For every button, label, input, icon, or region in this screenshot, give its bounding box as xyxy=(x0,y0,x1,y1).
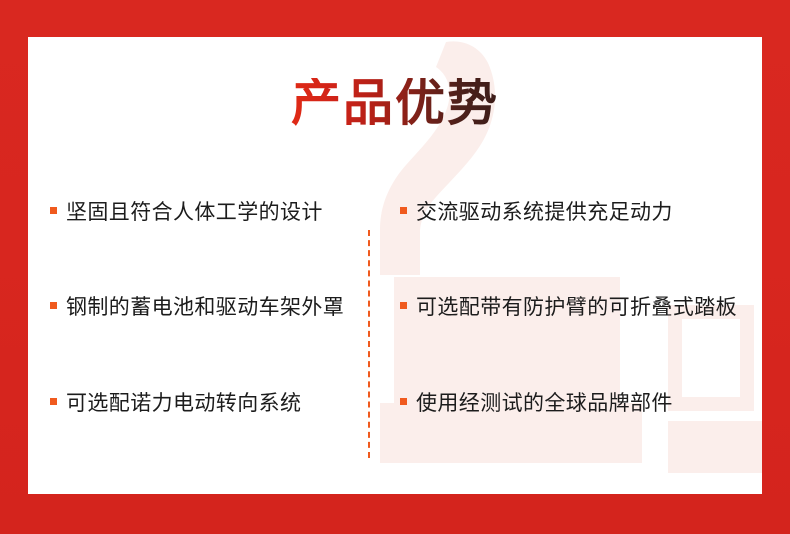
feature-text: 坚固且符合人体工学的设计 xyxy=(66,202,323,223)
list-item: 坚固且符合人体工学的设计 xyxy=(50,197,368,227)
feature-text: 钢制的蓄电池和驱动车架外罩 xyxy=(66,297,344,318)
square-bullet-icon xyxy=(400,302,407,309)
features-left-column: 坚固且符合人体工学的设计 钢制的蓄电池和驱动车架外罩 可选配诺力电动转向系统 xyxy=(28,170,368,450)
square-bullet-icon xyxy=(400,207,407,214)
feature-text: 使用经测试的全球品牌部件 xyxy=(416,393,673,414)
feature-text: 可选配带有防护臂的可折叠式踏板 xyxy=(416,297,737,318)
square-bullet-icon xyxy=(50,302,57,309)
product-advantages-banner: 产品优势 坚固且符合人体工学的设计 钢制的蓄电池和驱动车架外罩 可选配诺力电动转… xyxy=(0,0,790,534)
square-bullet-icon xyxy=(400,398,407,405)
list-item: 钢制的蓄电池和驱动车架外罩 xyxy=(50,292,368,322)
list-item: 使用经测试的全球品牌部件 xyxy=(400,388,762,418)
square-bullet-icon xyxy=(50,398,57,405)
list-item: 可选配带有防护臂的可折叠式踏板 xyxy=(400,292,762,322)
white-content-card: 产品优势 坚固且符合人体工学的设计 钢制的蓄电池和驱动车架外罩 可选配诺力电动转… xyxy=(28,37,762,494)
page-title: 产品优势 xyxy=(291,78,499,128)
list-item: 交流驱动系统提供充足动力 xyxy=(400,197,762,227)
page-title-container: 产品优势 xyxy=(28,78,762,128)
feature-text: 交流驱动系统提供充足动力 xyxy=(416,202,673,223)
square-bullet-icon xyxy=(50,207,57,214)
list-item: 可选配诺力电动转向系统 xyxy=(50,388,368,418)
features-right-column: 交流驱动系统提供充足动力 可选配带有防护臂的可折叠式踏板 使用经测试的全球品牌部… xyxy=(368,170,762,450)
features-columns: 坚固且符合人体工学的设计 钢制的蓄电池和驱动车架外罩 可选配诺力电动转向系统 交… xyxy=(28,170,762,450)
feature-text: 可选配诺力电动转向系统 xyxy=(66,393,301,414)
